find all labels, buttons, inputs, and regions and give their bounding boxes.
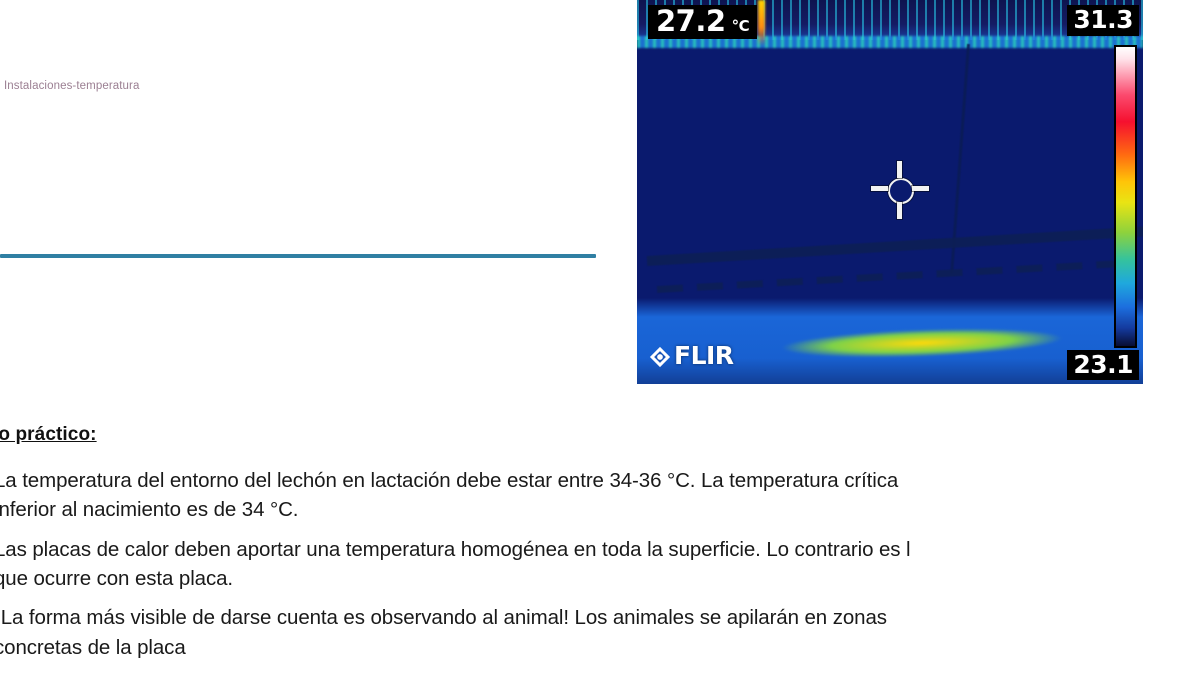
spot-temperature-value: 27.2 <box>656 6 726 36</box>
flir-wordmark: FLIR <box>674 341 734 370</box>
thermal-image: 27.2 °C 31.3 23.1 FLIR <box>637 0 1143 384</box>
spotmeter-tick-left <box>871 186 888 191</box>
body-text-block: uso práctico: La temperatura del entorno… <box>0 424 1200 672</box>
bullet-paragraph-1: La temperatura del entorno del lechón en… <box>0 466 1200 525</box>
thermal-hot-flare <box>758 0 765 46</box>
spotmeter-tick-top <box>897 161 902 178</box>
spotmeter-ring <box>888 178 914 204</box>
temperature-colorbar <box>1114 45 1137 348</box>
spot-temperature-unit: °C <box>732 19 750 35</box>
spotmeter-tick-bottom <box>897 202 902 219</box>
bullet-paragraph-2: Las placas de calor deben aportar una te… <box>0 535 1200 594</box>
spot-temperature-readout: 27.2 °C <box>648 5 757 39</box>
temperature-scale-max: 31.3 <box>1067 5 1139 36</box>
slide-subtitle: Instalaciones-temperatura <box>4 80 139 92</box>
temperature-scale-min: 23.1 <box>1067 350 1139 381</box>
bullet-paragraph-3: ¡La forma más visible de darse cuenta es… <box>0 603 1200 662</box>
practical-use-heading: uso práctico: <box>0 424 1200 446</box>
flir-diamond-icon <box>649 345 671 367</box>
crosshair-spotmeter-icon <box>871 161 929 219</box>
spotmeter-tick-right <box>912 186 929 191</box>
flir-logo: FLIR <box>649 341 734 370</box>
accent-divider-rule <box>0 254 596 258</box>
